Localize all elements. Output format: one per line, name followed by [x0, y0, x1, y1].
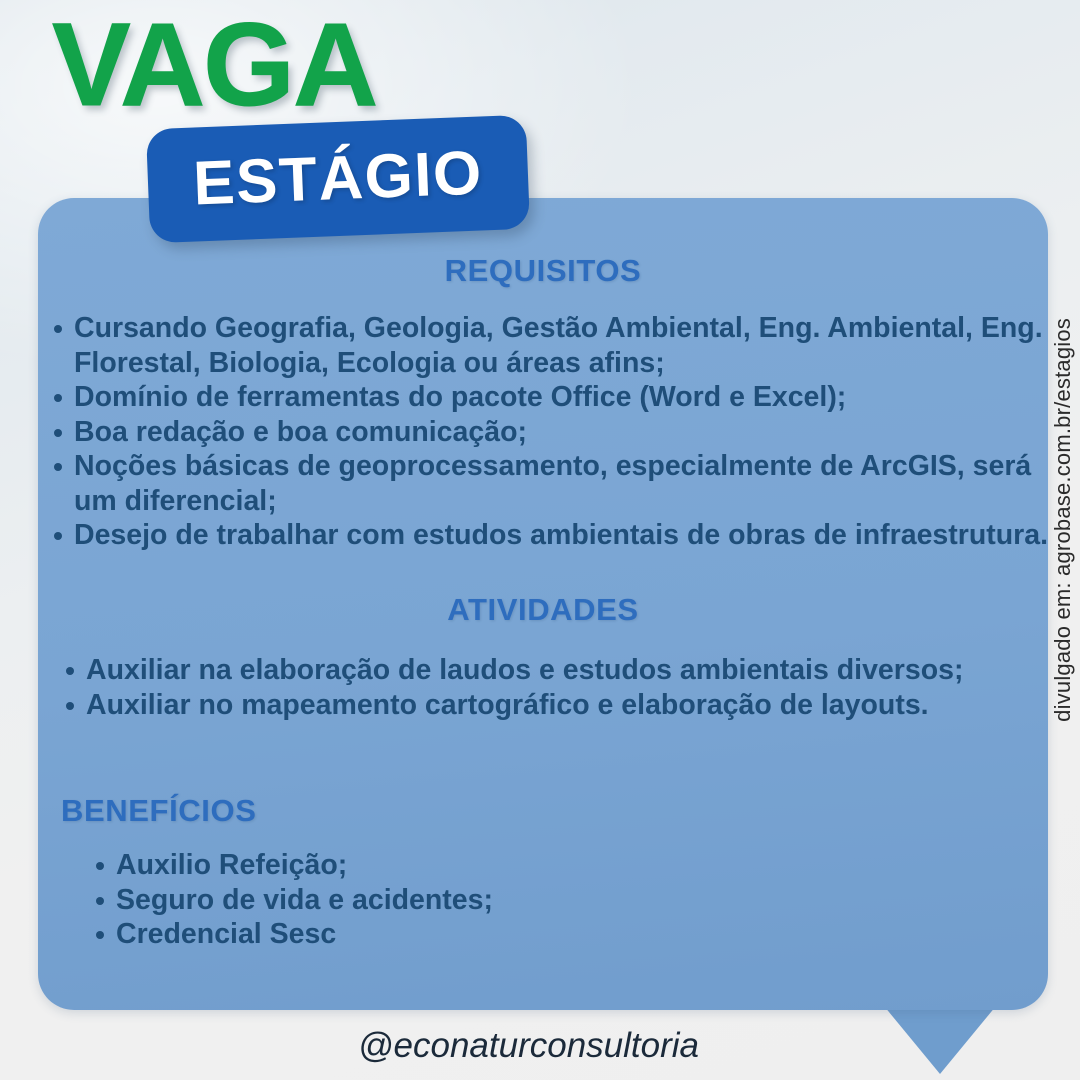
section-title-beneficios: BENEFÍCIOS	[61, 793, 256, 829]
list-item: Credencial Sesc	[90, 917, 790, 952]
section-title-requisitos: REQUISITOS	[38, 253, 1048, 289]
list-item: Noções básicas de geoprocessamento, espe…	[48, 449, 1054, 518]
social-handle: @econaturconsultoria	[358, 1026, 699, 1066]
list-item: Auxiliar no mapeamento cartográfico e el…	[60, 688, 1050, 723]
list-item: Boa redação e boa comunicação;	[48, 415, 1054, 450]
requirements-list: Cursando Geografia, Geologia, Gestão Amb…	[48, 311, 1054, 553]
list-item: Desejo de trabalhar com estudos ambienta…	[48, 518, 1054, 553]
activities-list: Auxiliar na elaboração de laudos e estud…	[60, 653, 1050, 722]
speech-bubble-tail	[884, 1006, 996, 1074]
list-item: Domínio de ferramentas do pacote Office …	[48, 380, 1054, 415]
job-posting-poster: VAGA ESTÁGIO REQUISITOS Cursando Geograf…	[0, 0, 1080, 1080]
page-title: VAGA	[52, 6, 376, 124]
card-content: REQUISITOS Cursando Geografia, Geologia,…	[38, 198, 1048, 1010]
list-item: Auxiliar na elaboração de laudos e estud…	[60, 653, 1050, 688]
list-item: Cursando Geografia, Geologia, Gestão Amb…	[48, 311, 1054, 380]
list-item: Auxilio Refeição;	[90, 848, 790, 883]
section-title-atividades: ATIVIDADES	[38, 592, 1048, 628]
benefits-list: Auxilio Refeição; Seguro de vida e acide…	[90, 848, 790, 952]
list-item: Seguro de vida e acidentes;	[90, 883, 790, 918]
source-credit: divulgado em: agrobase.com.br/estagios	[1050, 318, 1076, 722]
